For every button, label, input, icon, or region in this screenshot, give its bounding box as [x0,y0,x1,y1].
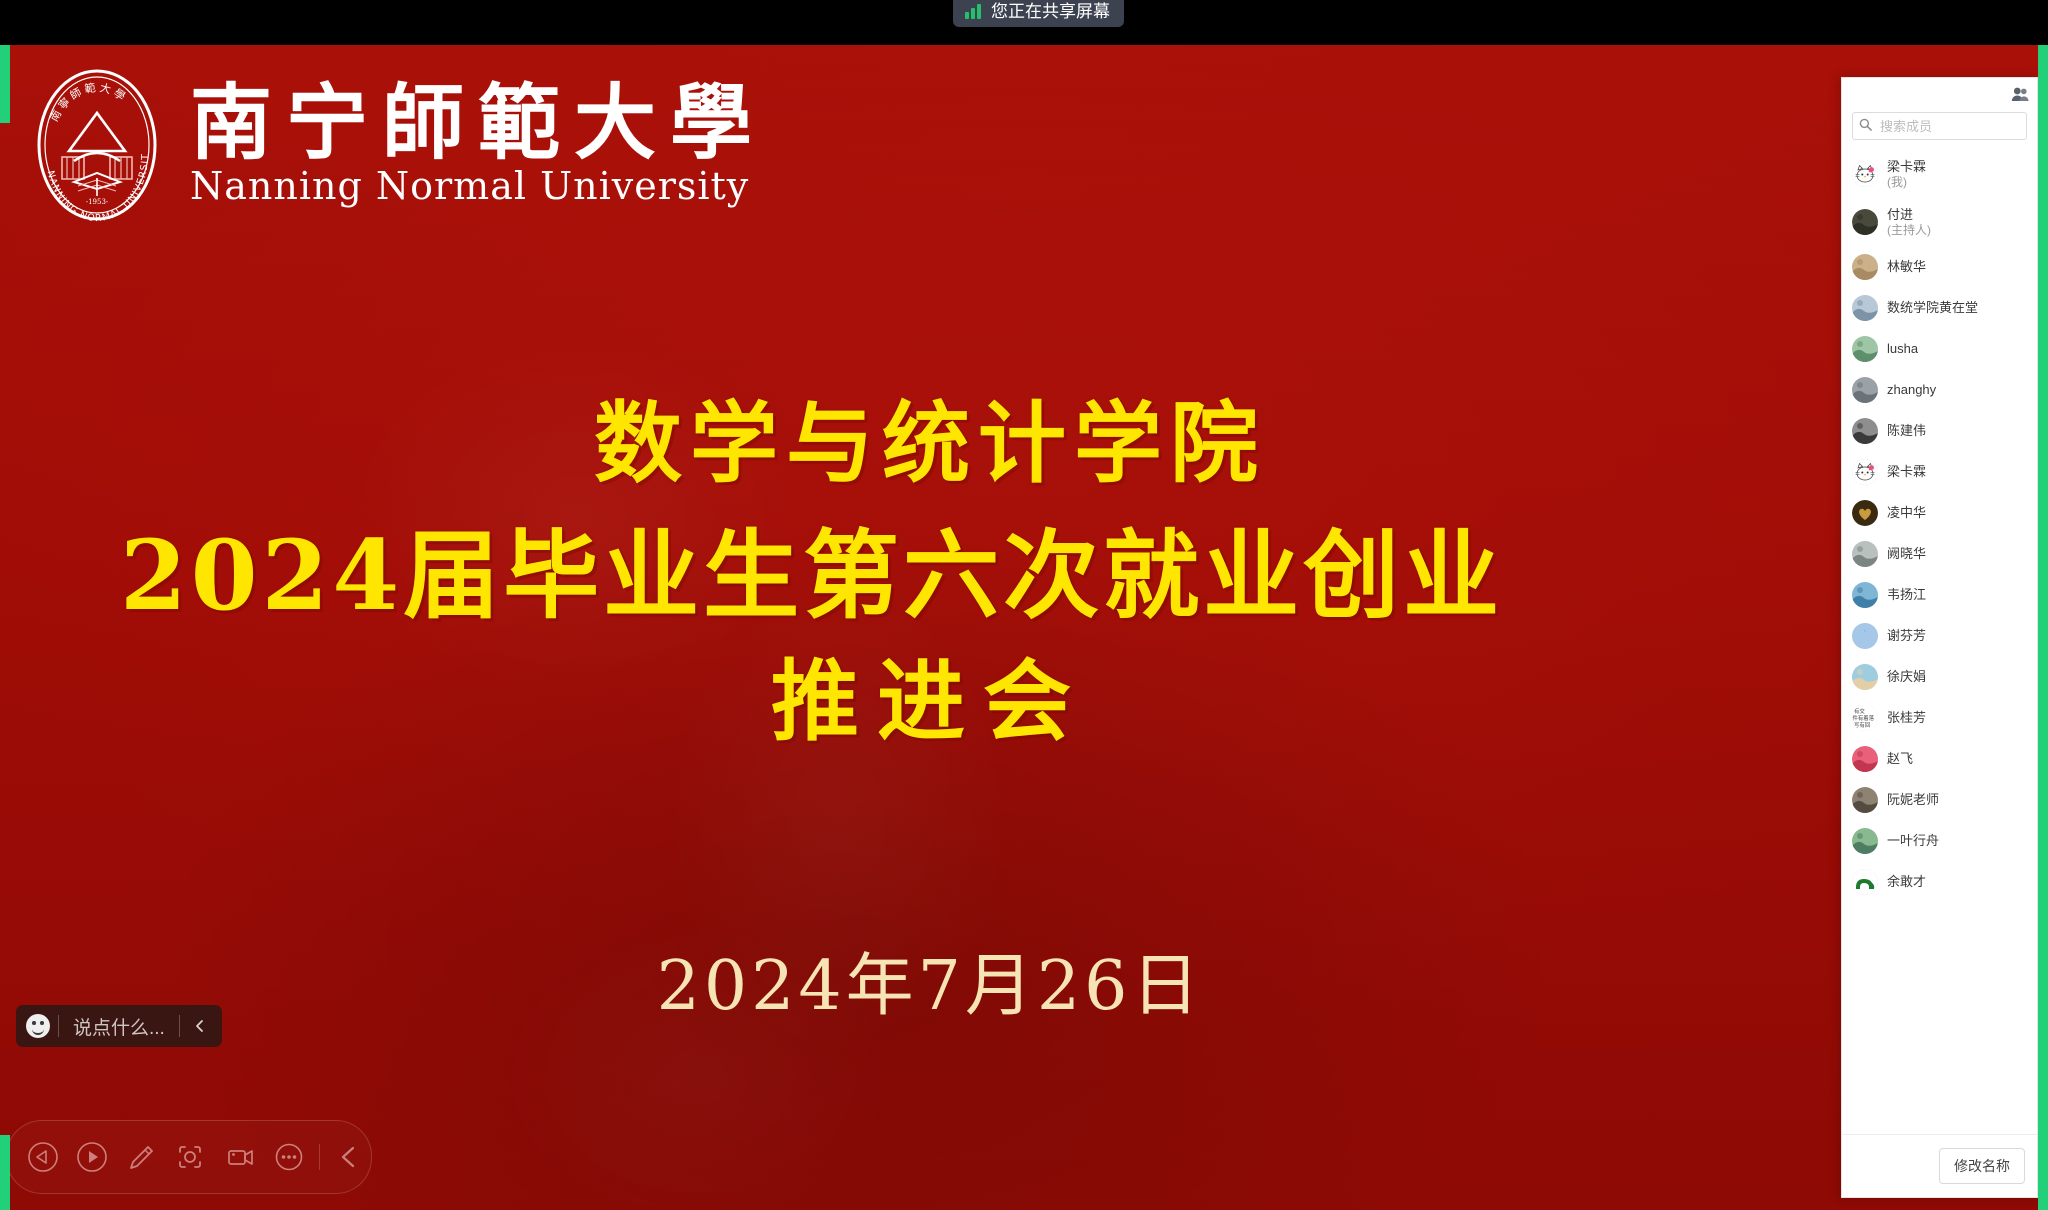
participants-panel-footer: 修改名称 [1842,1134,2037,1197]
participant-name: 阙晓华 [1887,546,1926,561]
avatar [1852,500,1878,526]
participant-name-block: 阮妮老师 [1887,792,1939,807]
participant-name-block: 一叶行舟 [1887,833,1939,848]
participant-name-block: lusha [1887,341,1918,356]
avatar [1852,209,1878,235]
participant-name: 付进 [1887,207,1931,222]
avatar [1852,664,1878,690]
participant-name: lusha [1887,341,1918,356]
svg-text:-1953-: -1953- [86,198,109,206]
signal-bars-icon [965,4,981,19]
participant-row[interactable]: 有交 件有着落 写有回张桂芳 [1842,697,2037,738]
participant-name: 梁卡霖 [1887,159,1926,174]
participant-name-block: 韦扬江 [1887,587,1926,602]
participant-name-block: 陈建伟 [1887,423,1926,438]
participant-name-block: 余敢才 [1887,874,1926,889]
participant-row[interactable]: 阮妮老师 [1842,779,2037,820]
spotlight-focus-button[interactable] [169,1135,212,1179]
shared-screen-stage: -1953- NANNING NORMAL UNIVERSITY 南寧師範大學 … [0,45,2048,1210]
university-name-en: Nanning Normal University [190,166,766,208]
avatar [1852,295,1878,321]
avatar [1852,459,1878,485]
participant-name: 徐庆娟 [1887,669,1926,684]
annotate-pen-button[interactable] [120,1135,163,1179]
participant-name-block: 付进(主持人) [1887,207,1931,236]
avatar [1852,161,1878,187]
participant-name: zhanghy [1887,382,1936,397]
previous-slide-button[interactable] [21,1135,64,1179]
record-button[interactable] [218,1135,261,1179]
collapse-toolbar-button[interactable] [328,1135,371,1179]
search-box[interactable] [1852,112,2027,140]
presenter-toolbar[interactable] [6,1120,372,1194]
search-input[interactable] [1878,118,2020,135]
participant-name-block: 凌中华 [1887,505,1926,520]
participant-row[interactable]: 韦扬江 [1842,574,2037,615]
participants-list[interactable]: 梁卡霖(我) 付进(主持人) 林敏华 数统学院黄在堂 lusha zhanghy… [1842,148,2037,1134]
participant-row[interactable]: 梁卡霖(我) [1842,150,2037,198]
more-options-button[interactable] [267,1135,310,1179]
participant-row[interactable]: 徐庆娟 [1842,656,2037,697]
avatar [1852,254,1878,280]
participant-row[interactable]: 陈建伟 [1842,410,2037,451]
participant-row[interactable]: lusha [1842,328,2037,369]
participant-name: 数统学院黄在堂 [1887,300,1978,315]
participant-name: 林敏华 [1887,259,1926,274]
participant-name-block: 阙晓华 [1887,546,1926,561]
participant-row[interactable]: 梁卡霖 [1842,451,2037,492]
headline-line-1: 数学与统计学院 [0,390,1860,497]
participant-row[interactable]: 凌中华 [1842,492,2037,533]
participant-name: 韦扬江 [1887,587,1926,602]
participant-name-block: 张桂芳 [1887,710,1926,725]
participant-row[interactable]: 赵飞 [1842,738,2037,779]
avatar [1852,787,1878,813]
avatar [1852,869,1878,895]
participant-name: 余敢才 [1887,874,1926,889]
headline-line-3: 推进会 [0,648,1860,755]
avatar [1852,828,1878,854]
participant-row[interactable]: 付进(主持人) [1842,198,2037,246]
participant-role: (主持人) [1887,223,1931,237]
participant-name: 梁卡霖 [1887,464,1926,479]
screen-share-topbar: 您正在共享屏幕 [0,0,2048,45]
rename-button[interactable]: 修改名称 [1939,1148,2025,1184]
university-name-cn: 南宁師範大學 [190,82,766,164]
participant-row[interactable]: 谢芬芳 [1842,615,2037,656]
svg-text:写有回: 写有回 [1854,721,1870,729]
university-wordmark: 南宁師範大學 Nanning Normal University [190,82,766,208]
avatar [1852,746,1878,772]
people-icon[interactable] [2011,86,2029,105]
participant-name-block: zhanghy [1887,382,1936,397]
avatar [1852,418,1878,444]
university-seal-icon: -1953- NANNING NORMAL UNIVERSITY 南寧師範大學 [22,65,172,225]
participant-name-block: 梁卡霖(我) [1887,159,1926,188]
participants-search-wrap [1842,112,2037,148]
presentation-slide: -1953- NANNING NORMAL UNIVERSITY 南寧師範大學 … [0,45,2048,1210]
participant-name-block: 梁卡霖 [1887,464,1926,479]
slide-date: 2024年7月26日 [0,930,1860,1029]
screen-share-status-pill: 您正在共享屏幕 [953,0,1124,27]
participant-name-block: 赵飞 [1887,751,1913,766]
smiley-icon[interactable] [18,1005,58,1047]
svg-text:件有着落: 件有着落 [1853,714,1875,722]
avatar [1852,582,1878,608]
participant-row[interactable]: 阙晓华 [1842,533,2037,574]
participant-name: 阮妮老师 [1887,792,1939,807]
screen-share-status-label: 您正在共享屏幕 [991,3,1110,20]
chat-input-bar[interactable]: 说点什么... [16,1005,222,1047]
participant-name: 赵飞 [1887,751,1913,766]
avatar: 有交 件有着落 写有回 [1852,705,1878,731]
search-icon [1859,118,1872,134]
participant-name: 凌中华 [1887,505,1926,520]
play-slide-button[interactable] [70,1135,113,1179]
participant-name: 谢芬芳 [1887,628,1926,643]
participant-row[interactable]: 一叶行舟 [1842,820,2037,861]
participant-row[interactable]: 余敢才 [1842,861,2037,902]
participant-row[interactable]: 数统学院黄在堂 [1842,287,2037,328]
participant-row[interactable]: 林敏华 [1842,246,2037,287]
participant-name: 陈建伟 [1887,423,1926,438]
participant-row[interactable]: zhanghy [1842,369,2037,410]
avatar [1852,541,1878,567]
participant-name-block: 徐庆娟 [1887,669,1926,684]
participant-name-block: 林敏华 [1887,259,1926,274]
svg-text:有交: 有交 [1854,707,1865,715]
participants-panel: 梁卡霖(我) 付进(主持人) 林敏华 数统学院黄在堂 lusha zhanghy… [1841,77,2038,1198]
participant-name-block: 谢芬芳 [1887,628,1926,643]
chat-input-placeholder[interactable]: 说点什么... [59,1013,179,1040]
avatar [1852,336,1878,362]
participants-panel-header [1842,78,2037,112]
university-logo: -1953- NANNING NORMAL UNIVERSITY 南寧師範大學 … [22,65,766,225]
avatar [1852,623,1878,649]
avatar [1852,377,1878,403]
slide-headline: 数学与统计学院 2024届毕业生第六次就业创业 推进会 [0,390,1860,756]
headline-line-2: 2024届毕业生第六次就业创业 [120,517,1860,634]
participant-role: (我) [1887,175,1926,189]
participant-name: 一叶行舟 [1887,833,1939,848]
chevron-left-icon[interactable] [180,1005,220,1047]
participant-name: 张桂芳 [1887,710,1926,725]
divider [319,1144,320,1170]
participant-name-block: 数统学院黄在堂 [1887,300,1978,315]
